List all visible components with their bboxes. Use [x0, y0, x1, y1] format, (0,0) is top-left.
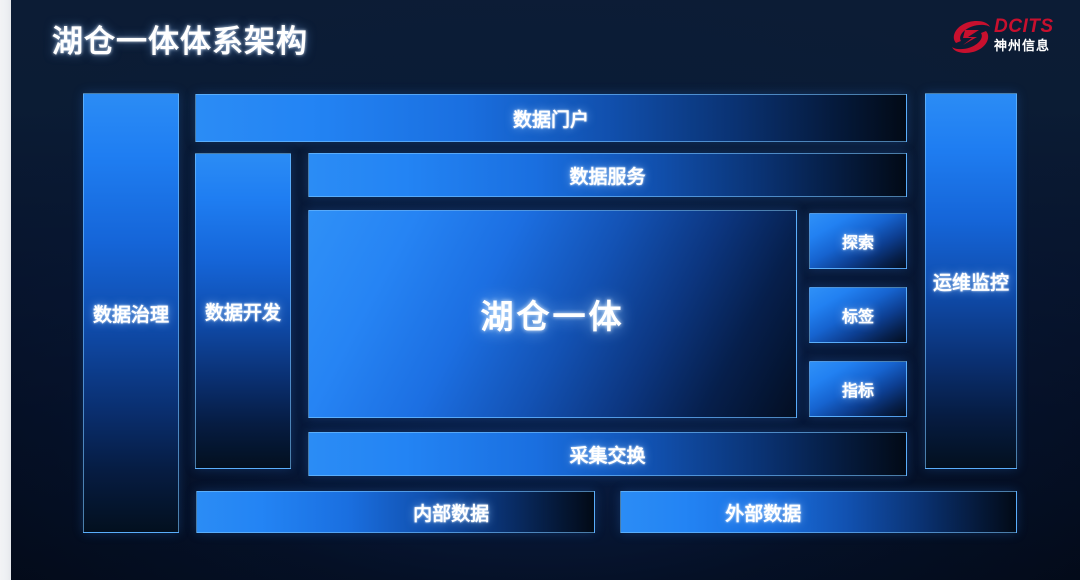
brand-logo-text: DCITS 神州信息: [994, 16, 1068, 54]
tile-tags-label: 标签: [842, 303, 874, 327]
source-internal-data-label: 内部数据: [413, 499, 489, 526]
column-data-governance-label: 数据治理: [93, 300, 169, 327]
brand-logo: DCITS 神州信息: [948, 12, 1068, 62]
panel-lakehouse-core-label: 湖仓一体: [481, 290, 625, 338]
brand-logo-en: DCITS: [994, 16, 1068, 37]
page-title: 湖仓一体体系架构: [52, 16, 308, 61]
tile-metrics-label: 指标: [842, 377, 874, 401]
row-collect-exchange-label: 采集交换: [569, 441, 645, 468]
row-data-service-label: 数据服务: [569, 162, 645, 189]
row-data-portal[interactable]: 数据门户: [195, 94, 907, 142]
slide-canvas: 湖仓一体体系架构 DCITS 神州信息 数据治理 数据开发 运维监控 数据门户 …: [0, 0, 1080, 580]
source-external-data-label: 外部数据: [725, 499, 801, 526]
source-external-data[interactable]: 外部数据: [620, 491, 1017, 533]
source-internal-data[interactable]: 内部数据: [196, 491, 595, 533]
tile-metrics[interactable]: 指标: [809, 361, 907, 417]
column-ops-monitoring[interactable]: 运维监控: [925, 93, 1017, 469]
dcits-swirl-logo-icon: [948, 16, 994, 58]
row-data-service[interactable]: 数据服务: [308, 153, 907, 197]
brand-logo-cn: 神州信息: [994, 38, 1068, 54]
tile-tags[interactable]: 标签: [809, 287, 907, 343]
column-data-development[interactable]: 数据开发: [195, 153, 291, 469]
panel-lakehouse-core[interactable]: 湖仓一体: [308, 210, 797, 418]
tile-explore-label: 探索: [842, 229, 874, 253]
row-data-portal-label: 数据门户: [513, 105, 589, 132]
column-data-development-label: 数据开发: [205, 298, 281, 325]
column-ops-monitoring-label: 运维监控: [933, 268, 1009, 295]
tile-explore[interactable]: 探索: [809, 213, 907, 269]
row-collect-exchange[interactable]: 采集交换: [308, 432, 907, 476]
left-edge-strip: [0, 0, 11, 580]
column-data-governance[interactable]: 数据治理: [83, 93, 179, 533]
